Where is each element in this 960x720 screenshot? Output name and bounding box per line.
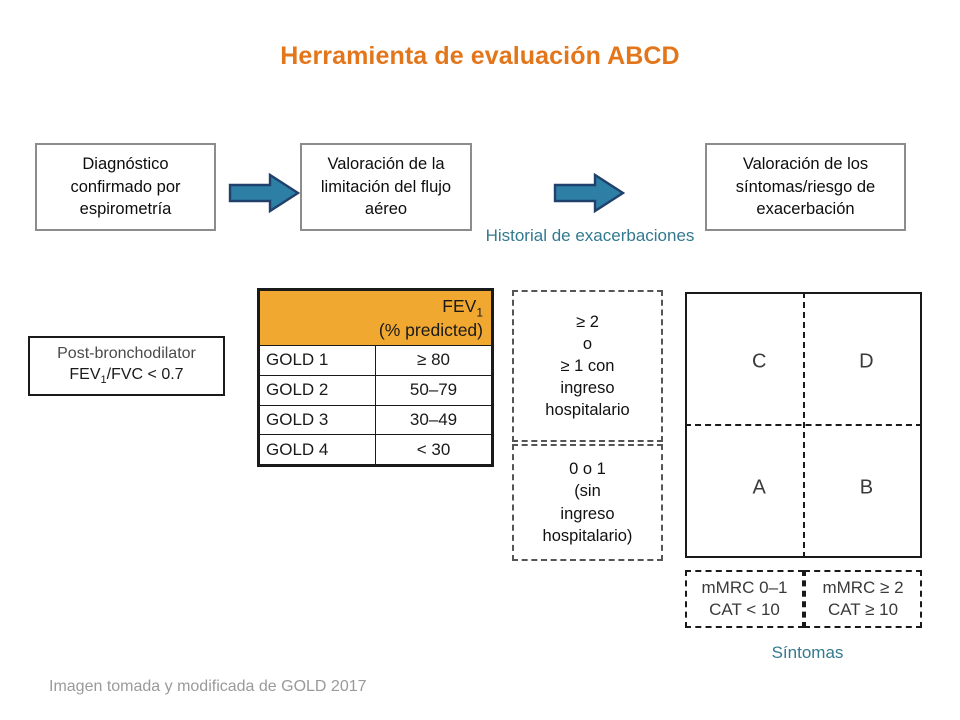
quadrant-label-b: B <box>860 476 873 499</box>
exacerbation-high-risk-box: ≥ 2o≥ 1 coningresohospitalario <box>512 290 663 442</box>
gold-grade: GOLD 3 <box>260 405 376 435</box>
gold-grade: GOLD 4 <box>260 435 376 465</box>
flow-box-limitacion: Valoración de la limitación del flujo aé… <box>300 143 472 231</box>
symptom-scale-box-high: mMRC ≥ 2 CAT ≥ 10 <box>804 570 922 628</box>
quadrant-label-a: A <box>753 476 766 499</box>
quadrant-label-c: C <box>752 351 766 374</box>
fev-prefix: FEV <box>69 366 100 383</box>
flow-arrow-1 <box>228 172 300 214</box>
gold-value: 30–49 <box>376 405 492 435</box>
slide-canvas: Herramienta de evaluación ABCD Diagnósti… <box>0 0 960 720</box>
cat-low-label: CAT < 10 <box>709 599 780 621</box>
gold-value: ≥ 80 <box>376 346 492 376</box>
flow-box-diagnostico: Diagnóstico confirmado por espirometría <box>35 143 216 231</box>
mmrc-low-label: mMRC 0–1 <box>702 577 788 599</box>
abcd-quadrant-grid: C D A B <box>685 292 922 558</box>
gold-grade: GOLD 1 <box>260 346 376 376</box>
table-header-fev1: FEV1(% predicted) <box>260 291 492 346</box>
flow-arrow-2 <box>553 172 625 214</box>
quadrant-label-d: D <box>859 351 873 374</box>
table-row: GOLD 2 50–79 <box>260 375 492 405</box>
header-fev-subscript: 1 <box>476 305 483 319</box>
footer-credit: Imagen tomada y modificada de GOLD 2017 <box>49 678 367 696</box>
page-title: Herramienta de evaluación ABCD <box>0 42 960 71</box>
grid-horizontal-divider <box>685 424 922 426</box>
label-historial-exacerbaciones: Historial de exacerbaciones <box>485 225 695 248</box>
table-header-row: FEV1(% predicted) <box>260 291 492 346</box>
gold-fev1-table: FEV1(% predicted) GOLD 1 ≥ 80 GOLD 2 50–… <box>257 288 494 467</box>
cat-high-label: CAT ≥ 10 <box>828 599 898 621</box>
fev-suffix: /FVC < 0.7 <box>107 366 184 383</box>
symptom-scale-box-low: mMRC 0–1 CAT < 10 <box>685 570 804 628</box>
table-row: GOLD 1 ≥ 80 <box>260 346 492 376</box>
gold-value: 50–79 <box>376 375 492 405</box>
exacerbation-low-risk-box: 0 o 1(siningresohospitalario) <box>512 444 663 561</box>
post-bronchodilator-line2: FEV1/FVC < 0.7 <box>69 365 183 387</box>
header-fev-text: FEV <box>442 296 476 316</box>
gold-value: < 30 <box>376 435 492 465</box>
header-percent-predicted: (% predicted) <box>379 320 483 340</box>
post-bronchodilator-line1: Post-bronchodilator <box>57 344 196 365</box>
gold-grade: GOLD 2 <box>260 375 376 405</box>
table-row: GOLD 4 < 30 <box>260 435 492 465</box>
label-sintomas: Síntomas <box>700 642 915 665</box>
table-row: GOLD 3 30–49 <box>260 405 492 435</box>
post-bronchodilator-box: Post-bronchodilator FEV1/FVC < 0.7 <box>28 336 225 396</box>
mmrc-high-label: mMRC ≥ 2 <box>822 577 903 599</box>
flow-box-sintomas-riesgo: Valoración de los síntomas/riesgo de exa… <box>705 143 906 231</box>
